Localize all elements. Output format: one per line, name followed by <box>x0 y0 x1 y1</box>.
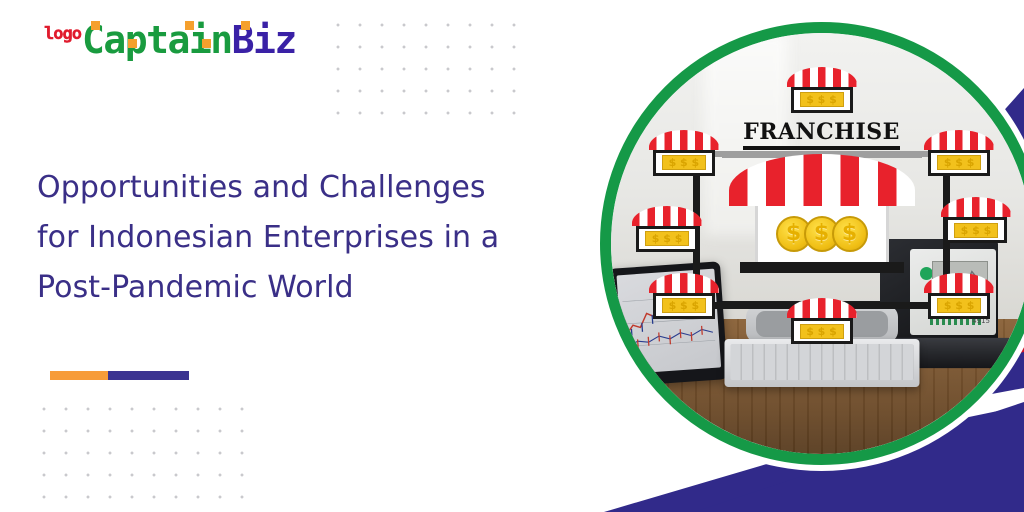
shop-base <box>740 262 904 273</box>
logo-pixel-accent <box>202 39 211 48</box>
satellite-shop-upper-right: $ $ $ <box>924 130 994 176</box>
dot-grid-bottom <box>33 398 261 512</box>
shop-sign: $ $ $ <box>636 226 698 252</box>
hero-circle-image: 4915 FRANCHISE <box>600 22 1024 465</box>
shop-sign: $ $ $ <box>653 293 715 319</box>
money-bill-icon: $ $ $ <box>937 298 981 313</box>
shop-awning <box>787 298 857 318</box>
satellite-shop-lower-right: $ $ $ <box>924 273 994 319</box>
money-bill-icon: $ $ $ <box>662 155 706 170</box>
dot-grid-top <box>327 14 534 129</box>
money-bill-icon: $ $ $ <box>645 231 689 246</box>
money-bill-icon: $ $ $ <box>937 155 981 170</box>
shop-sign: $ $ $ <box>928 150 990 176</box>
shop-awning <box>729 154 915 206</box>
coin-stack: $ $ $ <box>776 216 868 252</box>
satellite-shop-mid-left: $ $ $ <box>632 206 702 252</box>
satellite-shop-top: $ $ $ <box>787 67 857 113</box>
shop-sign: $ $ $ <box>791 318 853 344</box>
shop-sign: $ $ $ <box>945 217 1007 243</box>
money-bill-icon: $ $ $ <box>954 223 998 238</box>
money-bill-icon: $ $ $ <box>800 92 844 107</box>
logo-superscript: logo <box>44 26 81 43</box>
logo-wordmark: CaptainBiz <box>82 21 296 59</box>
accent-divider <box>50 371 189 380</box>
logo-pixel-accent <box>241 21 250 30</box>
shop-awning <box>941 197 1011 217</box>
shop-awning <box>649 273 719 293</box>
logo-pixel-accent <box>185 21 194 30</box>
hero-photo: 4915 FRANCHISE <box>611 33 1024 454</box>
shop-sign: $ $ $ <box>791 87 853 113</box>
shop-awning <box>924 273 994 293</box>
center-franchise-shop: FRANCHISE $ $ $ <box>729 121 915 272</box>
divider-segment-indigo <box>108 371 189 380</box>
satellite-shop-bottom: $ $ $ <box>787 298 857 344</box>
shop-awning <box>649 130 719 150</box>
satellite-shop-upper-left: $ $ $ <box>649 130 719 176</box>
divider-segment-orange <box>50 371 108 380</box>
shop-awning <box>632 206 702 226</box>
brand-logo[interactable]: logo CaptainBiz <box>44 22 296 70</box>
keyboard-keys <box>730 344 913 380</box>
logo-pixel-accent <box>128 39 137 48</box>
money-bill-icon: $ $ $ <box>800 324 844 339</box>
page-title: Opportunities and Challenges for Indones… <box>37 163 517 313</box>
shop-awning <box>787 67 857 87</box>
franchise-title: FRANCHISE <box>743 121 900 149</box>
shop-awning <box>924 130 994 150</box>
satellite-shop-mid-right: $ $ $ <box>941 197 1011 243</box>
shop-sign: $ $ $ <box>928 293 990 319</box>
logo-pixel-accent <box>91 21 100 30</box>
shop-window: $ $ $ <box>755 206 889 262</box>
dollar-coin-icon: $ <box>832 216 868 252</box>
money-bill-icon: $ $ $ <box>662 298 706 313</box>
shop-sign: $ $ $ <box>653 150 715 176</box>
banner-root: logo CaptainBiz Opportunities and Challe… <box>0 0 1024 512</box>
desktop-keyboard <box>724 339 919 387</box>
satellite-shop-lower-left: $ $ $ <box>649 273 719 319</box>
